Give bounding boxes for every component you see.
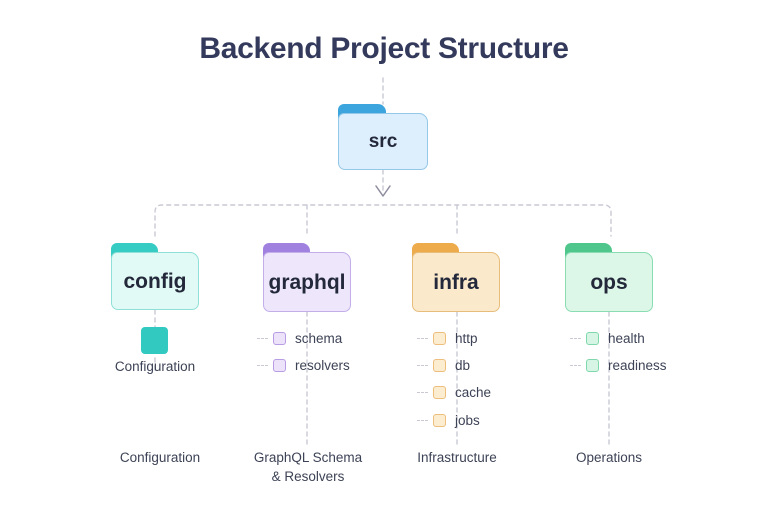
leaf-dash-icon	[417, 365, 428, 366]
leaf-dash-icon	[417, 420, 428, 421]
leaf-health[interactable]: health	[570, 329, 645, 347]
leaf-label: schema	[295, 331, 342, 346]
folder-infra[interactable]: infra	[412, 243, 500, 312]
file-chip-icon	[586, 359, 599, 372]
folder-label: config	[124, 271, 187, 292]
leaf-jobs[interactable]: jobs	[417, 411, 480, 429]
down-arrow-icon	[376, 186, 390, 196]
caption-config: Configuration	[80, 449, 240, 468]
leaf-dash-icon	[257, 365, 268, 366]
leaf-label: resolvers	[295, 358, 350, 373]
folder-label: ops	[590, 272, 627, 293]
folder-ops[interactable]: ops	[565, 243, 653, 312]
folder-body: config	[111, 252, 199, 310]
folder-body: infra	[412, 252, 500, 312]
config-child-chip[interactable]	[141, 327, 168, 354]
folder-src[interactable]: src	[338, 104, 428, 170]
folder-body: src	[338, 113, 428, 170]
file-chip-icon	[433, 414, 446, 427]
leaf-resolvers[interactable]: resolvers	[257, 356, 350, 374]
folder-label: graphql	[269, 272, 346, 293]
leaf-label: readiness	[608, 358, 667, 373]
caption-ops: Operations	[534, 449, 684, 468]
caption-infra: Infrastructure	[382, 449, 532, 468]
leaf-dash-icon	[570, 365, 581, 366]
leaf-readiness[interactable]: readiness	[570, 356, 667, 374]
leaf-label: jobs	[455, 413, 480, 428]
leaf-dash-icon	[417, 338, 428, 339]
diagram-canvas: Backend Project Structure src config Con…	[0, 0, 768, 512]
config-child-label: Configuration	[75, 359, 235, 374]
folder-body: ops	[565, 252, 653, 312]
leaf-dash-icon	[257, 338, 268, 339]
page-title: Backend Project Structure	[0, 32, 768, 66]
folder-config[interactable]: config	[111, 243, 199, 310]
leaf-dash-icon	[570, 338, 581, 339]
caption-graphql: GraphQL Schema & Resolvers	[232, 449, 384, 486]
leaf-label: cache	[455, 385, 491, 400]
leaf-schema[interactable]: schema	[257, 329, 342, 347]
leaf-db[interactable]: db	[417, 356, 470, 374]
leaf-http[interactable]: http	[417, 329, 478, 347]
edge-bus	[155, 205, 611, 236]
leaf-dash-icon	[417, 392, 428, 393]
file-chip-icon	[273, 332, 286, 345]
leaf-label: db	[455, 358, 470, 373]
folder-graphql[interactable]: graphql	[263, 243, 351, 312]
file-chip-icon	[433, 386, 446, 399]
leaf-label: health	[608, 331, 645, 346]
leaf-cache[interactable]: cache	[417, 383, 491, 401]
file-chip-icon	[586, 332, 599, 345]
leaf-label: http	[455, 331, 478, 346]
file-chip-icon	[433, 359, 446, 372]
file-chip-icon	[273, 359, 286, 372]
folder-body: graphql	[263, 252, 351, 312]
file-chip-icon	[433, 332, 446, 345]
folder-label: src	[369, 132, 398, 151]
folder-label: infra	[433, 272, 479, 293]
